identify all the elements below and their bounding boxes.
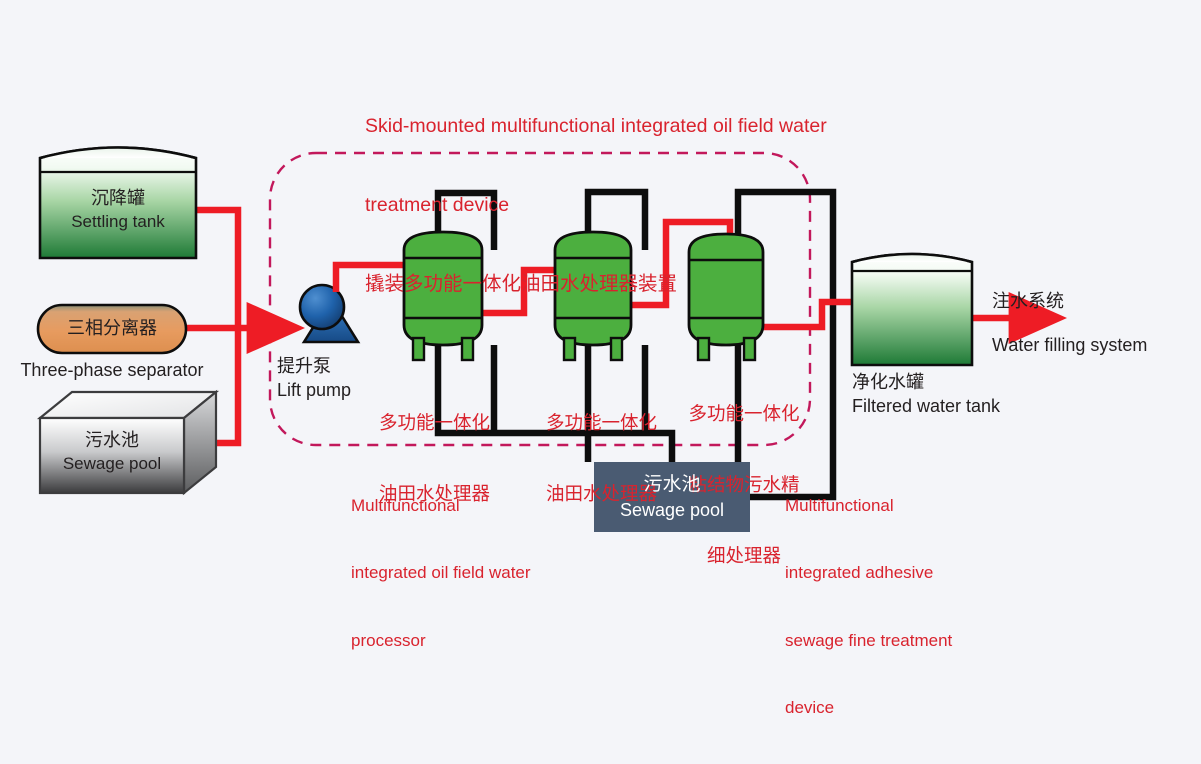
vessel-3-caption-en-line3: sewage fine treatment <box>785 630 1011 652</box>
title-cn: 撬装多功能一体化油田水处理器装置 <box>365 271 827 297</box>
vessel-1-caption-en-line1: Multifunctional <box>351 495 587 517</box>
filtered-water-tank-label-cn: 净化水罐 <box>852 372 924 393</box>
vessel-3-caption-en-line4: device <box>785 697 1011 719</box>
vessel-3-caption-en-line1: Multifunctional <box>785 495 1011 517</box>
lift-pump-label-cn: 提升泵 <box>277 356 331 377</box>
settling-tank-dome <box>40 148 196 159</box>
vessel-3-caption-en-line2: integrated adhesive <box>785 562 1011 584</box>
settling-tank-label-cn: 沉降罐 <box>40 188 196 209</box>
vessel-1-caption-en-line2: integrated oil field water <box>351 562 587 584</box>
diagram-canvas: Skid-mounted multifunctional integrated … <box>0 0 1201 567</box>
sewage-pool-bottom-label-en: Sewage pool <box>594 500 750 521</box>
settling-tank-label-en: Settling tank <box>40 212 196 232</box>
lift-pump-label-en: Lift pump <box>277 380 351 401</box>
vessel-2-label-cn-line1: 多功能一体化 <box>546 411 657 435</box>
filtered-water-tank-shape <box>852 254 972 365</box>
water-filling-system-label-en: Water filling system <box>992 335 1147 356</box>
sewage-pool-bottom-label-cn: 污水池 <box>594 474 750 496</box>
title-en-line1: Skid-mounted multifunctional integrated … <box>365 113 827 139</box>
filtered-water-tank-label-en: Filtered water tank <box>852 396 1000 417</box>
three-phase-separator-label-en: Three-phase separator <box>0 360 224 381</box>
lift-pump-symbol <box>300 285 358 342</box>
sewage-pool-source-label-cn: 污水池 <box>40 430 184 451</box>
vessel-1-caption-en-line3: processor <box>351 630 587 652</box>
three-phase-separator-label-cn: 三相分离器 <box>38 318 186 339</box>
title-en-line2: treatment device <box>365 192 827 218</box>
sewage-pool-source-label-en: Sewage pool <box>36 454 188 474</box>
vessel-3-caption-en: Multifunctional integrated adhesive sewa… <box>785 450 1011 764</box>
vessel-1-caption-en: Multifunctional integrated oil field wat… <box>351 450 587 697</box>
water-filling-system-label-cn: 注水系统 <box>992 291 1064 312</box>
diagram-title: Skid-mounted multifunctional integrated … <box>365 60 827 349</box>
filtered-tank-dome <box>852 254 972 262</box>
vessel-3-label-cn-line1: 多功能一体化 <box>672 402 816 426</box>
vessel-1-label-cn-line1: 多功能一体化 <box>379 411 490 435</box>
